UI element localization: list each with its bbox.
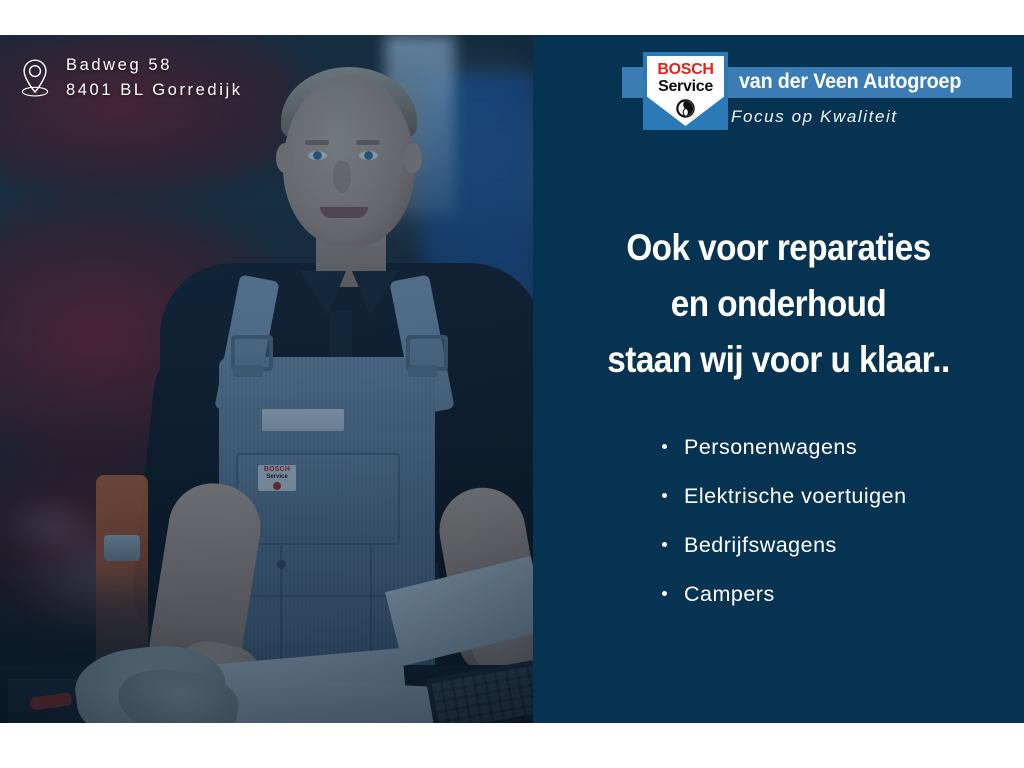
bullet-icon <box>662 591 667 596</box>
headline-line-2: en onderhoud <box>558 276 1000 332</box>
brand-name: van der Veen Autogroep <box>739 70 961 94</box>
location-pin-icon <box>18 58 52 98</box>
bullet-icon <box>662 542 667 547</box>
list-item: Campers <box>662 570 1002 619</box>
logo-shield-shape: BOSCH Service <box>647 56 724 126</box>
logo-service-text: Service <box>658 78 713 96</box>
brand-tagline: Focus op Kwaliteit <box>731 107 898 127</box>
list-item: Bedrijfswagens <box>662 521 1002 570</box>
headline-line-3: staan wij voor u klaar.. <box>558 332 1000 388</box>
bosch-armature-icon <box>676 99 695 118</box>
list-item: Elektrische voertuigen <box>662 472 1002 521</box>
mechanic-photo: BOSCH Service <box>0 35 533 723</box>
promo-banner: BOSCH Service <box>0 35 1024 723</box>
logo-bosch-text: BOSCH <box>657 61 713 78</box>
content-panel: BOSCH Service van der Veen Autogroep Foc… <box>533 35 1024 723</box>
service-label: Campers <box>684 582 775 606</box>
service-label: Personenwagens <box>684 435 857 459</box>
photo-vignette <box>0 35 533 723</box>
bullet-icon <box>662 444 667 449</box>
service-label: Bedrijfswagens <box>684 533 837 557</box>
headline-line-1: Ook voor reparaties <box>558 220 1000 276</box>
address-overlay: Badweg 58 8401 BL Gorredijk <box>18 53 243 103</box>
services-list: Personenwagens Elektrische voertuigen Be… <box>662 423 1002 619</box>
list-item: Personenwagens <box>662 423 1002 472</box>
address-text: Badweg 58 8401 BL Gorredijk <box>66 53 243 103</box>
service-label: Elektrische voertuigen <box>684 484 907 508</box>
bosch-service-logo: BOSCH Service <box>643 52 728 130</box>
address-line-1: Badweg 58 <box>66 53 243 78</box>
headline: Ook voor reparaties en onderhoud staan w… <box>558 220 1000 388</box>
address-line-2: 8401 BL Gorredijk <box>66 78 243 103</box>
bullet-icon <box>662 493 667 498</box>
